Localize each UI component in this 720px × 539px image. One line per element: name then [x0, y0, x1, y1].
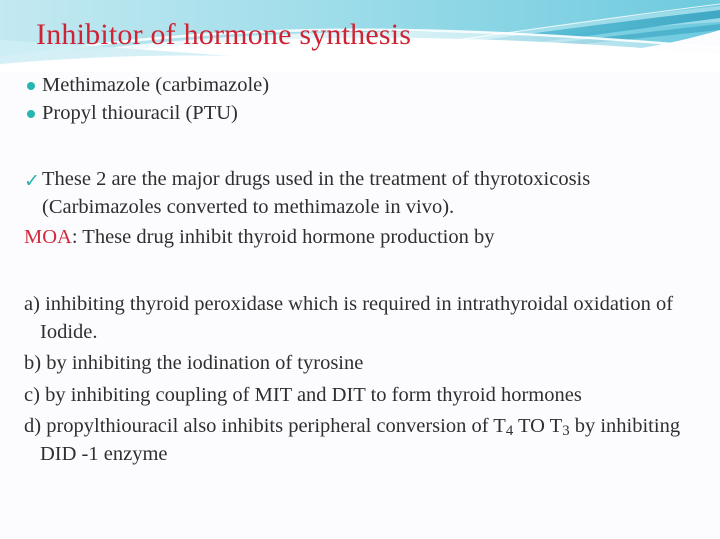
mechanism-marker: d) [24, 415, 41, 437]
list-item: Propyl thiouracil (PTU) [0, 100, 720, 127]
bullet-dot-icon [27, 110, 35, 118]
subscript-3: 3 [562, 423, 569, 439]
mechanism-item-a: a) inhibiting thyroid peroxidase which i… [0, 291, 720, 346]
mechanism-text: by inhibiting coupling of MIT and DIT to… [45, 384, 582, 406]
drug-bullet-list: Methimazole (carbimazole) Propyl thioura… [0, 72, 720, 127]
check-mark-icon: ✓ [24, 168, 40, 195]
mechanism-text: inhibiting thyroid peroxidase which is r… [40, 293, 673, 343]
mechanism-text-part1: propylthiouracil also inhibits periphera… [46, 415, 506, 437]
check-list-item: ✓ These 2 are the major drugs used in th… [0, 166, 720, 221]
slide-body: Methimazole (carbimazole) Propyl thioura… [0, 72, 720, 472]
slide-title: Inhibitor of hormone synthesis [36, 18, 411, 52]
mechanism-text: by inhibiting the iodination of tyrosine [46, 352, 363, 374]
bullet-text: Propyl thiouracil (PTU) [42, 102, 238, 124]
presentation-slide: Inhibitor of hormone synthesis Methimazo… [0, 0, 720, 539]
bullet-text: Methimazole (carbimazole) [42, 74, 269, 96]
moa-label: MOA [24, 226, 72, 248]
mechanism-text-part2: TO T [513, 415, 562, 437]
mechanism-marker: b) [24, 352, 41, 374]
mechanism-marker: c) [24, 384, 40, 406]
mechanism-item-c: c) by inhibiting coupling of MIT and DIT… [0, 382, 720, 410]
mechanism-item-b: b) by inhibiting the iodination of tyros… [0, 350, 720, 378]
mechanism-item-d: d) propylthiouracil also inhibits periph… [0, 413, 720, 468]
moa-description: : These drug inhibit thyroid hormone pro… [72, 226, 495, 248]
bullet-dot-icon [27, 82, 35, 90]
spacer [0, 128, 720, 166]
spacer [0, 251, 720, 291]
list-item: Methimazole (carbimazole) [0, 72, 720, 99]
mechanism-marker: a) [24, 293, 40, 315]
moa-line: MOA: These drug inhibit thyroid hormone … [0, 223, 720, 251]
check-item-text: These 2 are the major drugs used in the … [42, 168, 590, 218]
